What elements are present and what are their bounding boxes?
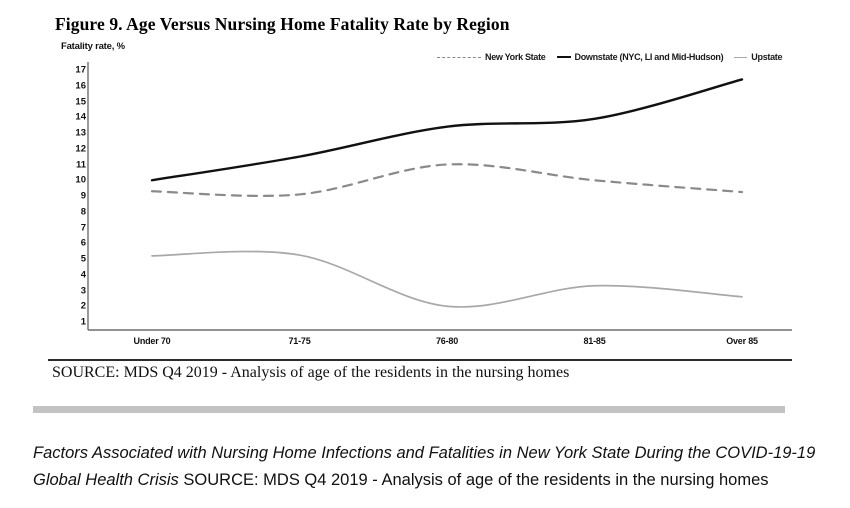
caption-plain-text: SOURCE: MDS Q4 2019 - Analysis of age of… (179, 471, 769, 489)
line-chart-svg (0, 0, 850, 396)
series-line-upstate (152, 251, 742, 306)
section-separator-bar (33, 406, 785, 413)
series-line-downstate-nyc-li-and-mid-hudson (152, 79, 742, 180)
source-divider (48, 359, 792, 361)
source-note: SOURCE: MDS Q4 2019 - Analysis of age of… (52, 364, 569, 382)
series-line-new-york-state (152, 164, 742, 196)
figure-caption: Factors Associated with Nursing Home Inf… (33, 440, 823, 494)
figure-panel: Figure 9. Age Versus Nursing Home Fatali… (0, 0, 850, 396)
plot-area: 1234567891011121314151617 Under 7071-757… (0, 0, 850, 396)
